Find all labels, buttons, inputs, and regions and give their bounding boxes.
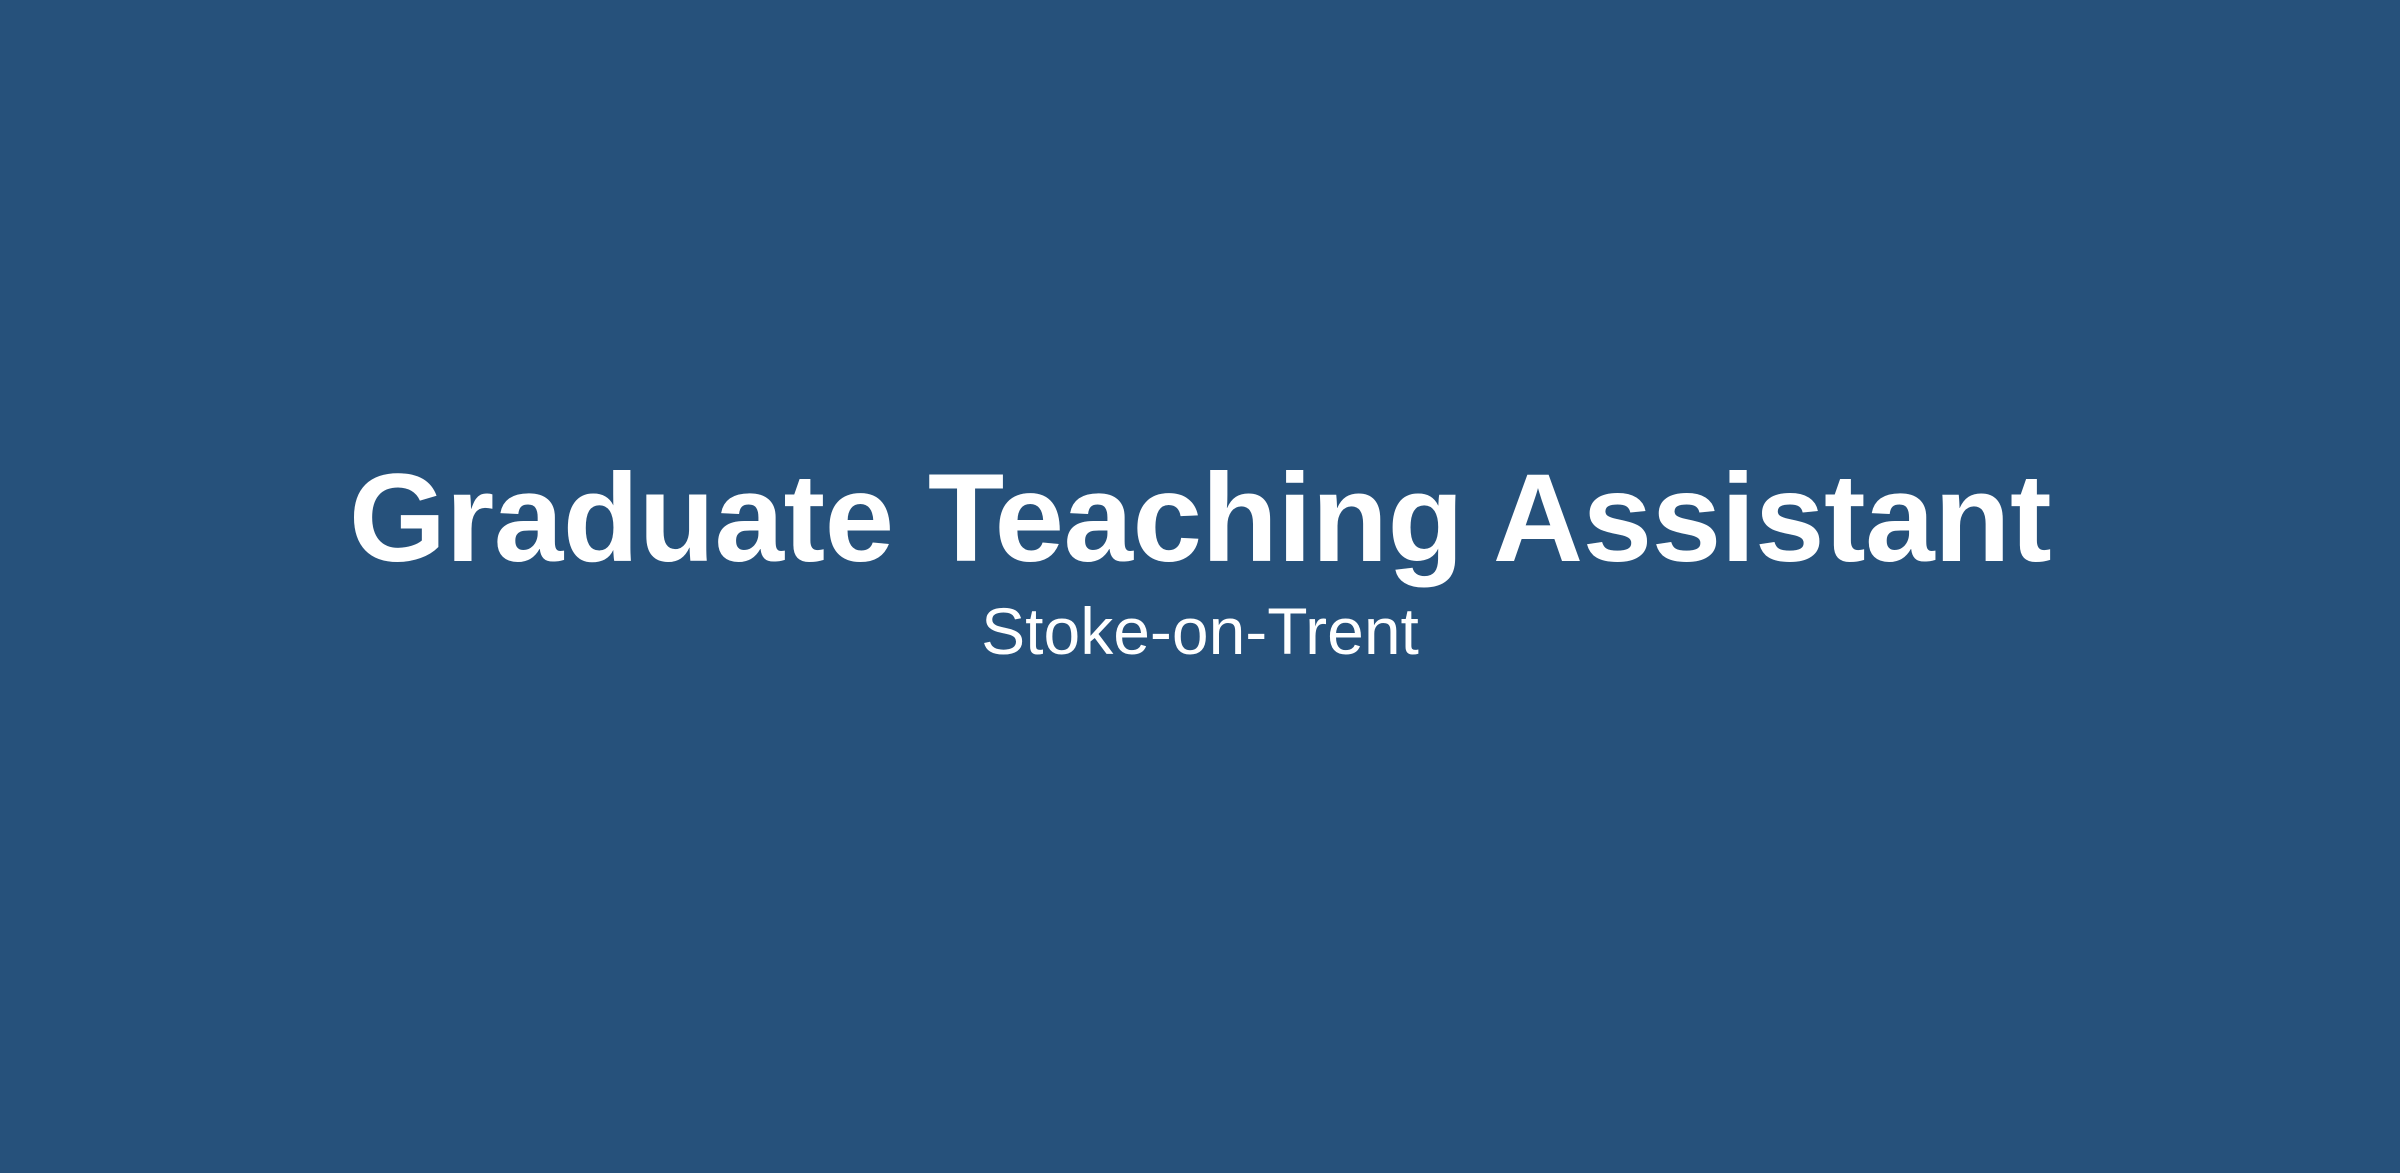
card-content: Graduate Teaching Assistant Stoke-on-Tre… [0, 455, 2400, 667]
job-posting-card: Graduate Teaching Assistant Stoke-on-Tre… [0, 0, 2400, 1173]
job-title: Graduate Teaching Assistant [349, 455, 2051, 583]
job-location: Stoke-on-Trent [981, 595, 1419, 668]
